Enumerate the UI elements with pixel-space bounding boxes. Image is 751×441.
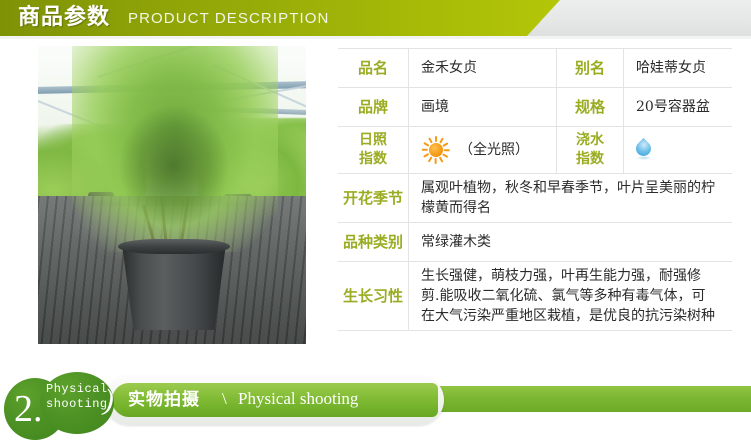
page-title: 商品参数 [18, 4, 110, 32]
spec-value-sunlight: （全光照） [408, 127, 556, 173]
section-number: 2. [14, 390, 43, 428]
spec-label-sunlight: 日照指数 [338, 127, 408, 173]
table-cell-group-left: 日照指数 [338, 127, 556, 173]
table-row: 日照指数 [338, 127, 732, 174]
spec-value: 常绿灌木类 [408, 223, 732, 261]
section-banner: 实物拍摄 \ Physical shooting 2. Physical sho… [0, 372, 751, 441]
spec-value-watering [623, 127, 732, 173]
table-row: 开花季节 属观叶植物，秋冬和早春季节，叶片呈美丽的柠檬黄而得名 [338, 174, 732, 223]
spec-label: 品牌 [338, 88, 408, 126]
page-header: 商品参数 PRODUCT DESCRIPTION [0, 0, 751, 36]
product-description-page: 商品参数 PRODUCT DESCRIPTION [0, 0, 751, 441]
page-title-english: PRODUCT DESCRIPTION [128, 9, 329, 29]
spec-label-watering: 浇水指数 [557, 127, 623, 173]
spec-label: 别名 [557, 49, 623, 87]
spec-value: 生长强健，萌枝力强，叶再生能力强，耐强修剪.能吸收二氧化硫、氯气等多种有毒气体，… [408, 262, 732, 330]
section-title-separator: \ [222, 388, 227, 410]
pot-rim [118, 239, 230, 254]
section-badge-line1: Physical [46, 382, 108, 397]
water-drop-icon [636, 139, 652, 161]
table-cell-group-right: 别名 哈娃蒂女贞 [556, 49, 732, 87]
spec-value: 20号容器盆 [623, 88, 732, 126]
spec-value: 哈娃蒂女贞 [623, 49, 732, 87]
black-nursery-pot [122, 244, 226, 330]
table-cell-group-right: 浇水指数 [556, 127, 732, 173]
table-row: 生长习性 生长强健，萌枝力强，叶再生能力强，耐强修剪.能吸收二氧化硫、氯气等多种… [338, 262, 732, 331]
table-cell-group-left: 品牌 画境 [338, 88, 556, 126]
spec-value: 属观叶植物，秋冬和早春季节，叶片呈美丽的柠檬黄而得名 [408, 174, 732, 222]
spec-label: 品种类别 [338, 223, 408, 261]
table-row: 品种类别 常绿灌木类 [338, 223, 732, 262]
header-divider [0, 36, 751, 39]
product-photo [38, 46, 306, 344]
spec-label: 品名 [338, 49, 408, 87]
table-row: 品名 金禾女贞 别名 哈娃蒂女贞 [338, 48, 732, 88]
spec-value: 画境 [408, 88, 556, 126]
shrub-canopy-shadow [120, 106, 228, 226]
sunlight-text: （全光照） [459, 140, 529, 160]
section-badge-line2: shooting [46, 397, 108, 412]
table-row: 品牌 画境 规格 20号容器盆 [338, 88, 732, 127]
table-cell-group-left: 品名 金禾女贞 [338, 49, 556, 87]
spec-label: 生长习性 [338, 262, 408, 330]
banner-bar-extension [430, 386, 751, 412]
spec-label: 规格 [557, 88, 623, 126]
spec-value: 金禾女贞 [408, 49, 556, 87]
section-title-cn: 实物拍摄 [128, 389, 200, 411]
sun-icon [421, 135, 451, 165]
section-title-en: Physical shooting [238, 388, 358, 410]
table-cell-group-right: 规格 20号容器盆 [556, 88, 732, 126]
spec-label: 开花季节 [338, 174, 408, 222]
specification-table: 品名 金禾女贞 别名 哈娃蒂女贞 品牌 画境 规格 20号容器盆 日照指数 [338, 48, 732, 331]
